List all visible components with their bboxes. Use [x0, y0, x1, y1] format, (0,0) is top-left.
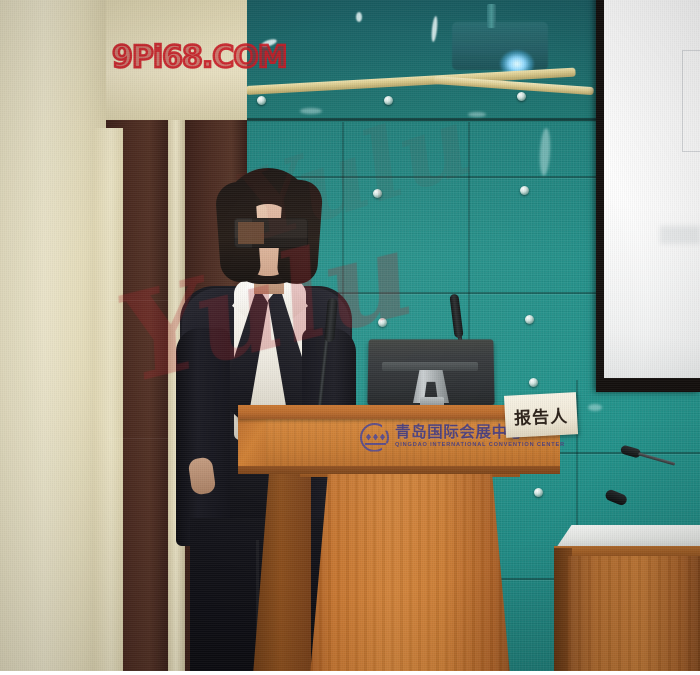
- panel-stud: [520, 186, 529, 195]
- light-reflection: [300, 108, 322, 114]
- light-reflection: [468, 112, 486, 117]
- convention-center-logo-icon: [360, 423, 389, 452]
- photo-scene: 青岛国际会展中心 QINGDAO INTERNATIONAL CONVENTIO…: [0, 0, 700, 675]
- panel-stud: [525, 315, 534, 324]
- url-watermark: 9Pi68.COM: [112, 40, 282, 75]
- jacket-arm-left: [176, 328, 230, 546]
- panel-stud: [384, 96, 393, 105]
- logo-underline: [365, 443, 386, 445]
- podium-logo: 青岛国际会展中心 QINGDAO INTERNATIONAL CONVENTIO…: [360, 420, 525, 454]
- logo-diamonds: [366, 433, 385, 442]
- projector-mount-icon: [487, 4, 496, 28]
- podium-column-grain: [310, 472, 510, 675]
- panel-stud: [534, 488, 543, 497]
- panel-stud: [373, 189, 382, 198]
- side-table-grain: [568, 556, 700, 675]
- panel-stud: [378, 318, 387, 327]
- cream-pillar-inner: [93, 128, 123, 675]
- cream-pillar: [0, 0, 106, 675]
- panel-stud: [529, 378, 538, 387]
- screen-content-blur: [660, 226, 700, 244]
- name-card-text: 报告人: [513, 401, 568, 428]
- monitor-vent: [382, 362, 478, 371]
- wall-reflection: [588, 404, 602, 411]
- podium-lip: [238, 466, 560, 474]
- panel-stud: [517, 92, 526, 101]
- panel-stud: [257, 96, 266, 105]
- wood-grain-line: [106, 300, 168, 301]
- face-redaction-block: [238, 222, 264, 244]
- screen-content-box: [682, 50, 700, 152]
- wood-grain-line: [106, 438, 168, 439]
- bottom-border: [0, 671, 700, 675]
- podium-logo-english: QINGDAO INTERNATIONAL CONVENTION CENTER: [395, 443, 565, 449]
- speaker-name-card: 报告人: [504, 392, 578, 438]
- light-reflection: [356, 12, 362, 22]
